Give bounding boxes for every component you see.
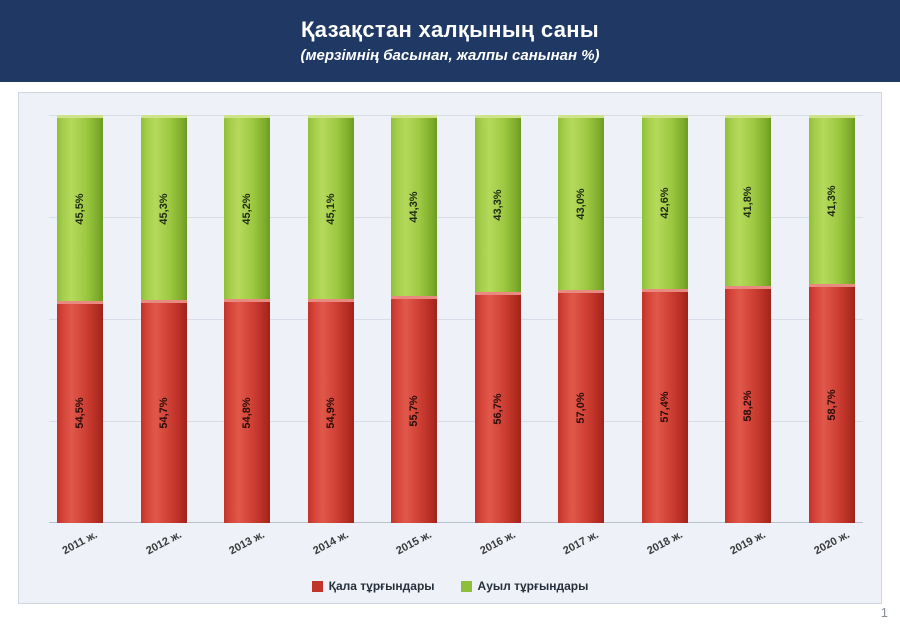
category-tick: 2015 ж. <box>391 525 437 577</box>
slide-body: 45,5%54,5%45,3%54,7%45,2%54,8%45,1%54,9%… <box>0 82 900 624</box>
legend-item-urban[interactable]: Қала тұрғындары <box>312 579 435 593</box>
bar-segment-rural: 45,5% <box>57 115 103 301</box>
bar-column: 41,3%58,7% <box>809 115 855 523</box>
bar-segment-urban: 54,5% <box>57 301 103 523</box>
category-tick-label: 2013 ж. <box>227 529 267 558</box>
category-tick: 2019 ж. <box>725 525 771 577</box>
legend-label: Ауыл тұрғындары <box>478 579 589 593</box>
page-number: 1 <box>881 605 888 620</box>
bar-segment-urban: 58,7% <box>809 284 855 523</box>
bar-value-label: 45,5% <box>74 194 86 225</box>
bar-column: 45,3%54,7% <box>141 115 187 523</box>
bar-segment-urban: 54,7% <box>141 300 187 523</box>
category-tick-label: 2018 ж. <box>645 529 685 558</box>
category-axis: 2011 ж.2012 ж.2013 ж.2014 ж.2015 ж.2016 … <box>49 525 863 577</box>
category-tick-label: 2015 ж. <box>394 529 434 558</box>
bar-segment-rural: 44,3% <box>391 115 437 296</box>
bar-value-label: 54,9% <box>325 397 337 428</box>
bar-value-label: 58,7% <box>826 389 838 420</box>
bar-value-label: 57,4% <box>659 392 671 423</box>
bar-segment-rural: 45,2% <box>224 115 270 299</box>
bar-column: 41,8%58,2% <box>725 115 771 523</box>
bar-segment-urban: 57,0% <box>558 290 604 523</box>
bar-value-label: 45,1% <box>325 193 337 224</box>
bar-segment-rural: 41,8% <box>725 115 771 286</box>
chart-legend: Қала тұрғындарыАуыл тұрғындары <box>19 579 881 593</box>
category-tick-label: 2011 ж. <box>61 529 100 557</box>
bar-column: 43,0%57,0% <box>558 115 604 523</box>
bar-value-label: 57,0% <box>575 393 587 424</box>
bar-segment-rural: 43,3% <box>475 115 521 292</box>
category-tick: 2017 ж. <box>558 525 604 577</box>
bar-value-label: 45,3% <box>158 193 170 224</box>
bar-value-label: 41,8% <box>742 186 754 217</box>
bar-column: 44,3%55,7% <box>391 115 437 523</box>
category-tick-label: 2012 ж. <box>144 529 184 558</box>
bar-value-label: 54,7% <box>158 397 170 428</box>
category-tick-label: 2014 ж. <box>311 529 351 558</box>
chart-panel: 45,5%54,5%45,3%54,7%45,2%54,8%45,1%54,9%… <box>18 92 882 604</box>
category-tick: 2020 ж. <box>809 525 855 577</box>
bar-value-label: 54,8% <box>241 397 253 428</box>
category-tick-label: 2020 ж. <box>812 529 852 558</box>
legend-item-rural[interactable]: Ауыл тұрғындары <box>461 579 589 593</box>
category-tick-label: 2016 ж. <box>478 529 518 558</box>
category-tick: 2018 ж. <box>642 525 688 577</box>
category-tick: 2016 ж. <box>475 525 521 577</box>
category-tick: 2012 ж. <box>141 525 187 577</box>
bar-value-label: 58,2% <box>742 390 754 421</box>
bar-value-label: 56,7% <box>492 393 504 424</box>
bar-column: 45,2%54,8% <box>224 115 270 523</box>
bar-column: 42,6%57,4% <box>642 115 688 523</box>
bar-segment-urban: 58,2% <box>725 286 771 523</box>
bar-value-label: 45,2% <box>241 193 253 224</box>
bar-value-label: 44,3% <box>408 191 420 222</box>
legend-label: Қала тұрғындары <box>329 579 435 593</box>
category-tick-label: 2019 ж. <box>729 529 769 558</box>
bar-segment-rural: 41,3% <box>809 115 855 284</box>
bar-segment-rural: 45,1% <box>308 115 354 299</box>
bar-column: 45,5%54,5% <box>57 115 103 523</box>
page-title: Қазақстан халқының саны <box>301 18 599 42</box>
bar-segment-rural: 42,6% <box>642 115 688 289</box>
legend-swatch-icon <box>461 581 472 592</box>
bar-value-label: 42,6% <box>659 188 671 219</box>
bar-segment-urban: 57,4% <box>642 289 688 523</box>
bar-value-label: 43,0% <box>575 189 587 220</box>
category-tick: 2013 ж. <box>224 525 270 577</box>
bar-segment-rural: 45,3% <box>141 115 187 300</box>
category-tick: 2011 ж. <box>57 525 103 577</box>
bar-value-label: 55,7% <box>408 395 420 426</box>
bar-segment-urban: 54,8% <box>224 299 270 523</box>
category-tick-label: 2017 ж. <box>562 529 602 558</box>
bar-column: 43,3%56,7% <box>475 115 521 523</box>
bar-segment-urban: 56,7% <box>475 292 521 523</box>
bar-segment-urban: 54,9% <box>308 299 354 523</box>
category-tick: 2014 ж. <box>308 525 354 577</box>
bar-value-label: 41,3% <box>826 185 838 216</box>
plot-area: 45,5%54,5%45,3%54,7%45,2%54,8%45,1%54,9%… <box>49 115 863 523</box>
bar-column: 45,1%54,9% <box>308 115 354 523</box>
bar-value-label: 54,5% <box>74 398 86 429</box>
bar-group: 45,5%54,5%45,3%54,7%45,2%54,8%45,1%54,9%… <box>49 115 863 523</box>
slide-header: Қазақстан халқының саны (мерзімнің басын… <box>0 0 900 82</box>
legend-swatch-icon <box>312 581 323 592</box>
bar-segment-rural: 43,0% <box>558 115 604 290</box>
bar-segment-urban: 55,7% <box>391 296 437 523</box>
page-subtitle: (мерзімнің басынан, жалпы санынан %) <box>300 47 599 64</box>
bar-value-label: 43,3% <box>492 189 504 220</box>
